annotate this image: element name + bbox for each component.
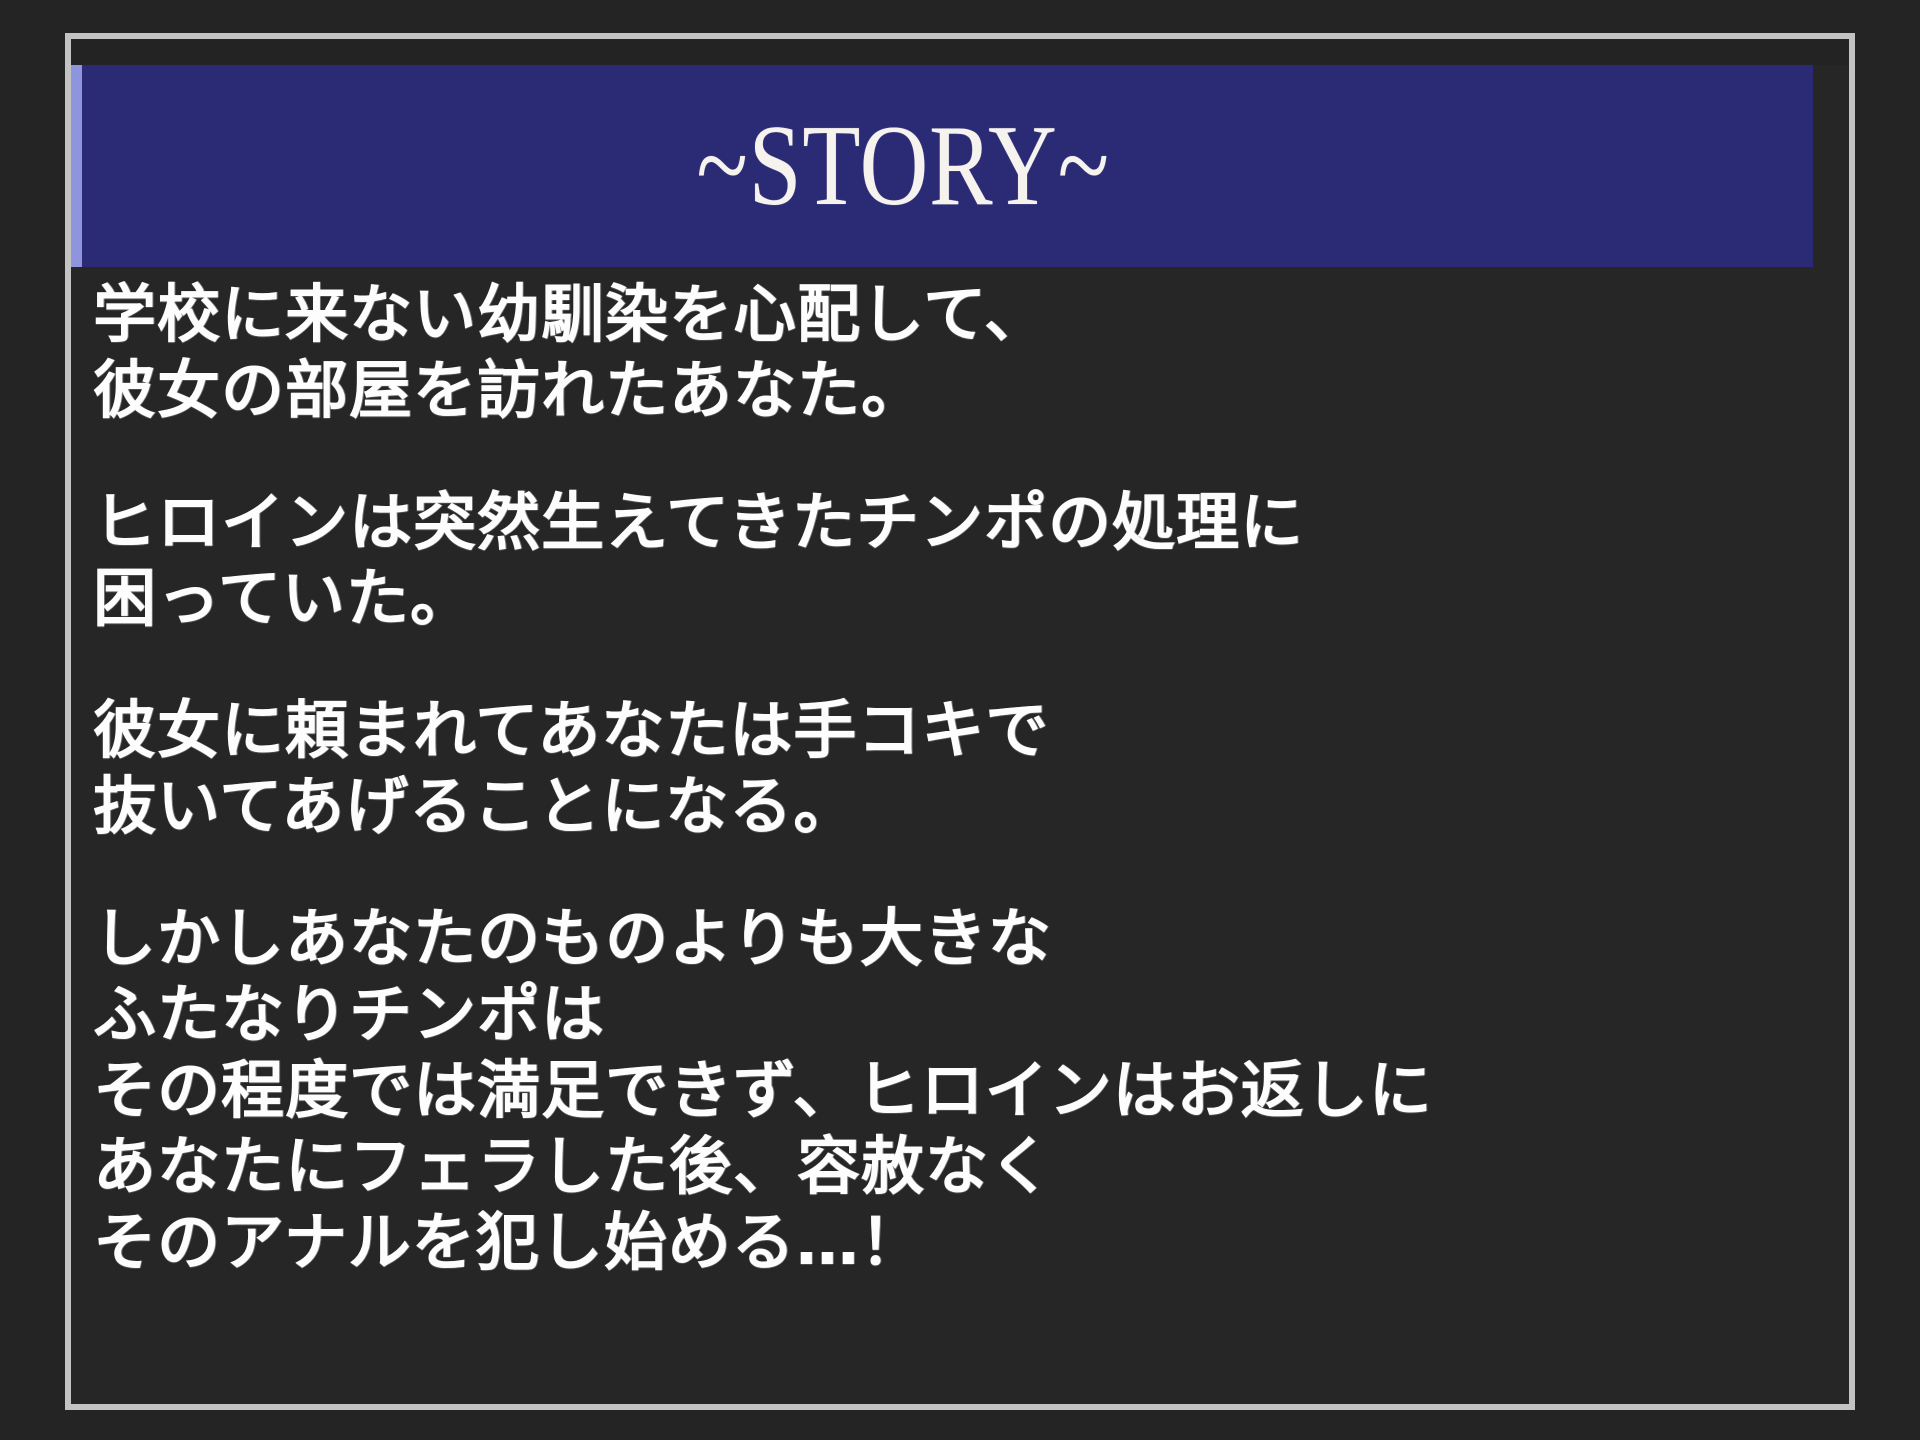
story-paragraph: しかしあなたのものよりも大きな ふたなりチンポは その程度では満足できず、ヒロイ… [93,901,1849,1281]
story-line: ヒロインは突然生えてきたチンポの処理に [93,485,1849,561]
story-line: あなたにフェラした後、容赦なく [93,1129,1849,1205]
story-paragraph: 彼女に頼まれてあなたは手コキで 抜いてあげることになる。 [93,693,1849,845]
story-line: 困っていた。 [93,561,1849,637]
story-line: 抜いてあげることになる。 [93,769,1849,845]
story-paragraph: ヒロインは突然生えてきたチンポの処理に 困っていた。 [93,485,1849,637]
story-paragraph: 学校に来ない幼馴染を心配して、 彼女の部屋を訪れたあなた。 [93,277,1849,429]
story-card-stage: ~STORY~ 学校に来ない幼馴染を心配して、 彼女の部屋を訪れたあなた。 ヒロ… [0,0,1920,1440]
story-text-block: 学校に来ない幼馴染を心配して、 彼女の部屋を訪れたあなた。 ヒロインは突然生えて… [71,267,1849,1281]
story-line: 彼女の部屋を訪れたあなた。 [93,353,1849,429]
page-title: ~STORY~ [696,108,1110,224]
story-line: そのアナルを犯し始める…！ [93,1205,1849,1281]
story-line: しかしあなたのものよりも大きな [93,901,1849,977]
banner-left-accent-bar [71,65,82,267]
story-line: 彼女に頼まれてあなたは手コキで [93,693,1849,769]
story-line: 学校に来ない幼馴染を心配して、 [93,277,1849,353]
banner-top-gap [71,39,1849,65]
story-line: その程度では満足できず、ヒロインはお返しに [93,1053,1849,1129]
story-panel: ~STORY~ 学校に来ない幼馴染を心配して、 彼女の部屋を訪れたあなた。 ヒロ… [65,33,1855,1410]
story-line: ふたなりチンポは [93,977,1849,1053]
story-title-banner: ~STORY~ [71,65,1813,267]
